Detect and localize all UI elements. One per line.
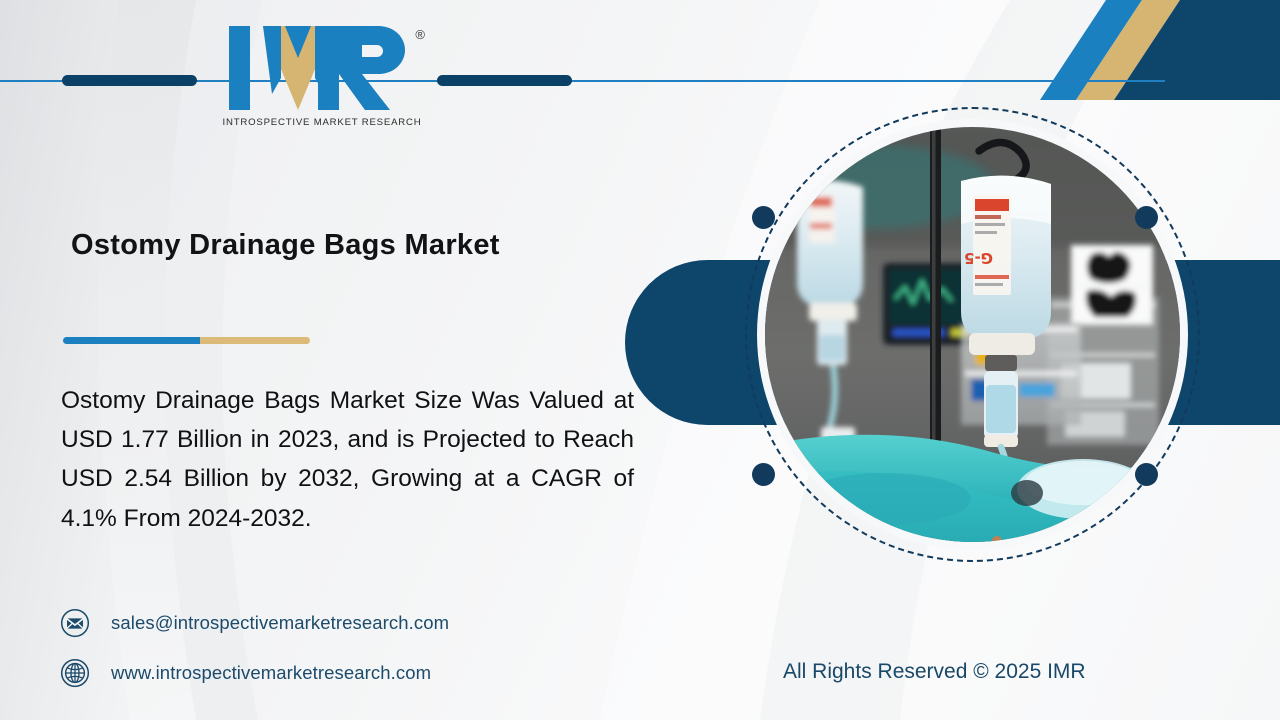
operating-room-illustration: G-5: [765, 127, 1180, 542]
ring-dot-bottom-left: [752, 463, 775, 486]
page-title: Ostomy Drainage Bags Market: [71, 228, 631, 263]
website-url[interactable]: www.introspectivemarketresearch.com: [111, 662, 431, 684]
copyright-text: All Rights Reserved © 2025 IMR: [783, 660, 1086, 684]
ring-dot-bottom-right: [1135, 463, 1158, 486]
logo-mark: ®: [229, 26, 415, 110]
ring-dot-top-right: [1135, 206, 1158, 229]
contact-email[interactable]: sales@introspectivemarketresearch.com: [60, 608, 449, 638]
header-divider-cap-left: [62, 75, 197, 86]
imr-logo[interactable]: ® INTROSPECTIVE MARKET RESEARCH: [222, 26, 422, 141]
logo-tagline: INTROSPECTIVE MARKET RESEARCH: [223, 117, 422, 128]
visual-cluster: G-5: [600, 80, 1280, 600]
contact-website[interactable]: www.introspectivemarketresearch.com: [60, 658, 431, 688]
email-address[interactable]: sales@introspectivemarketresearch.com: [111, 612, 449, 634]
ring-dot-top-left: [752, 206, 775, 229]
hero-photo: G-5: [765, 127, 1180, 542]
market-summary: Ostomy Drainage Bags Market Size Was Val…: [61, 381, 634, 538]
accent-bar-gold: [200, 337, 310, 344]
registered-mark-icon: ®: [415, 28, 425, 41]
svg-text:G-5: G-5: [964, 249, 993, 267]
envelope-icon: [60, 608, 90, 638]
header-divider-cap-right: [437, 75, 572, 86]
market-summary-text: Ostomy Drainage Bags Market Size Was Val…: [61, 387, 634, 532]
accent-bar-blue: [63, 337, 200, 344]
accent-bar: [63, 337, 310, 344]
banner: ® INTROSPECTIVE MARKET RESEARCH Ostomy D…: [0, 0, 1280, 720]
logo-letters-icon: [229, 26, 415, 110]
globe-icon: [60, 658, 90, 688]
